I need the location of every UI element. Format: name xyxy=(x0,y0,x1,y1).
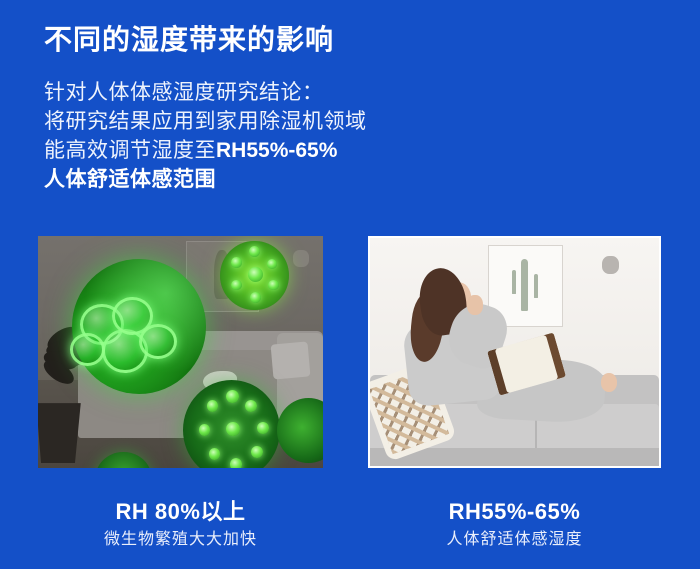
microbe-spore xyxy=(248,267,263,282)
intro-line-3-highlight: RH55%-65% xyxy=(216,139,337,162)
page-title: 不同的湿度带来的影响 xyxy=(44,18,334,58)
intro-paragraph: 针对人体体感湿度研究结论： 将研究结果应用到家用除湿机领域 能高效调节湿度至RH… xyxy=(44,78,367,194)
microbe-spore xyxy=(209,448,221,460)
humidity-infographic-poster: 不同的湿度带来的影响 针对人体体感湿度研究结论： 将研究结果应用到家用除湿机领域… xyxy=(0,0,700,569)
caption-title: RH55%-65% xyxy=(368,498,661,525)
photo-high-humidity xyxy=(38,236,323,468)
person-foot xyxy=(601,373,617,391)
intro-line-3: 能高效调节湿度至RH55%-65% xyxy=(44,136,367,165)
microbe-spore xyxy=(251,446,263,458)
microbe-spore xyxy=(199,424,211,436)
dim-room-scene xyxy=(38,236,323,468)
caption-high-humidity: RH 80%以上 微生物繁殖大大加快 xyxy=(38,498,323,552)
caption-subtitle: 微生物繁殖大大加快 xyxy=(38,528,323,552)
wall-knob-icon xyxy=(293,250,309,267)
microbe-cluster-large xyxy=(72,259,206,394)
microbe-spore xyxy=(231,257,241,267)
caption-title: RH 80%以上 xyxy=(38,498,323,525)
microbe-spore xyxy=(245,400,257,412)
microbe-spore xyxy=(257,422,269,434)
microbe-sphere-top-right xyxy=(220,241,288,311)
microbe-cell xyxy=(139,324,177,360)
microbe-spore xyxy=(267,259,277,269)
microbe-cell xyxy=(70,333,105,366)
intro-line-3-regular: 能高效调节湿度至 xyxy=(44,139,216,162)
microbe-spore xyxy=(226,390,239,403)
intro-line-4: 人体舒适体感范围 xyxy=(44,165,367,194)
photo-comfort-humidity xyxy=(368,236,661,468)
caption-subtitle: 人体舒适体感湿度 xyxy=(368,528,661,552)
caption-comfort-humidity: RH55%-65% 人体舒适体感湿度 xyxy=(368,498,661,552)
microbe-spore xyxy=(250,292,261,303)
person-hand xyxy=(467,295,483,315)
sofa-cushion xyxy=(270,341,310,379)
microbe-spore xyxy=(268,280,278,290)
intro-line-1: 针对人体体感湿度研究结论： xyxy=(44,78,367,107)
microbe-spore xyxy=(231,280,241,290)
microbe-spore xyxy=(207,400,219,412)
intro-line-2: 将研究结果应用到家用除湿机领域 xyxy=(44,107,367,136)
person-reading xyxy=(390,268,621,450)
bright-room-scene xyxy=(370,238,659,466)
microbe-spore xyxy=(226,422,240,436)
plant-pot xyxy=(38,403,81,463)
microbe-spore xyxy=(230,458,243,468)
microbe-spore xyxy=(249,246,260,257)
